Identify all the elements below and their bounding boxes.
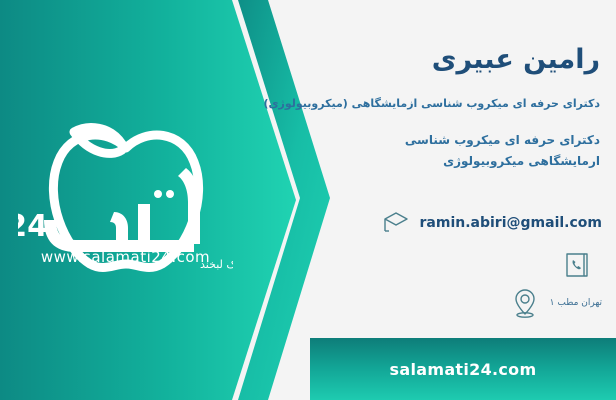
credential-detail: دکترای حرفه ای میکروب شناسی ارمایشگاهی م… [310, 130, 600, 172]
footer-website[interactable]: salamati24.com [390, 360, 537, 379]
logo-wordmark [44, 168, 200, 252]
credential-headline: دکترای حرفه ای میکروب شناسی ازمایشگاهی (… [300, 96, 600, 113]
email-value[interactable]: ramin.abiri@gmail.com [420, 215, 602, 231]
logo-website-url: www.salamati24.com [18, 248, 233, 266]
business-card: 24 به راحتی یک لبخند www.salamati24.com … [0, 0, 616, 400]
map-pin-icon [510, 288, 540, 318]
contact-row-email[interactable]: ramin.abiri@gmail.com [380, 208, 602, 238]
credential-line-1: دکترای حرفه ای میکروب شناسی [310, 130, 600, 151]
envelope-icon [380, 208, 410, 238]
location-value[interactable]: تهران مطب ۱ [550, 298, 602, 308]
contact-row-phone[interactable] [562, 250, 602, 280]
footer-bar: salamati24.com [310, 338, 616, 400]
phone-book-icon [562, 250, 592, 280]
credential-line-2: ارمایشگاهی میکروبیولوژی [310, 151, 600, 172]
person-name: رامین عبیری [320, 44, 600, 76]
contact-row-location[interactable]: تهران مطب ۱ [510, 288, 602, 318]
logo-badge-24: 24 [18, 209, 48, 244]
logo-badge-number: 24 [18, 209, 48, 244]
